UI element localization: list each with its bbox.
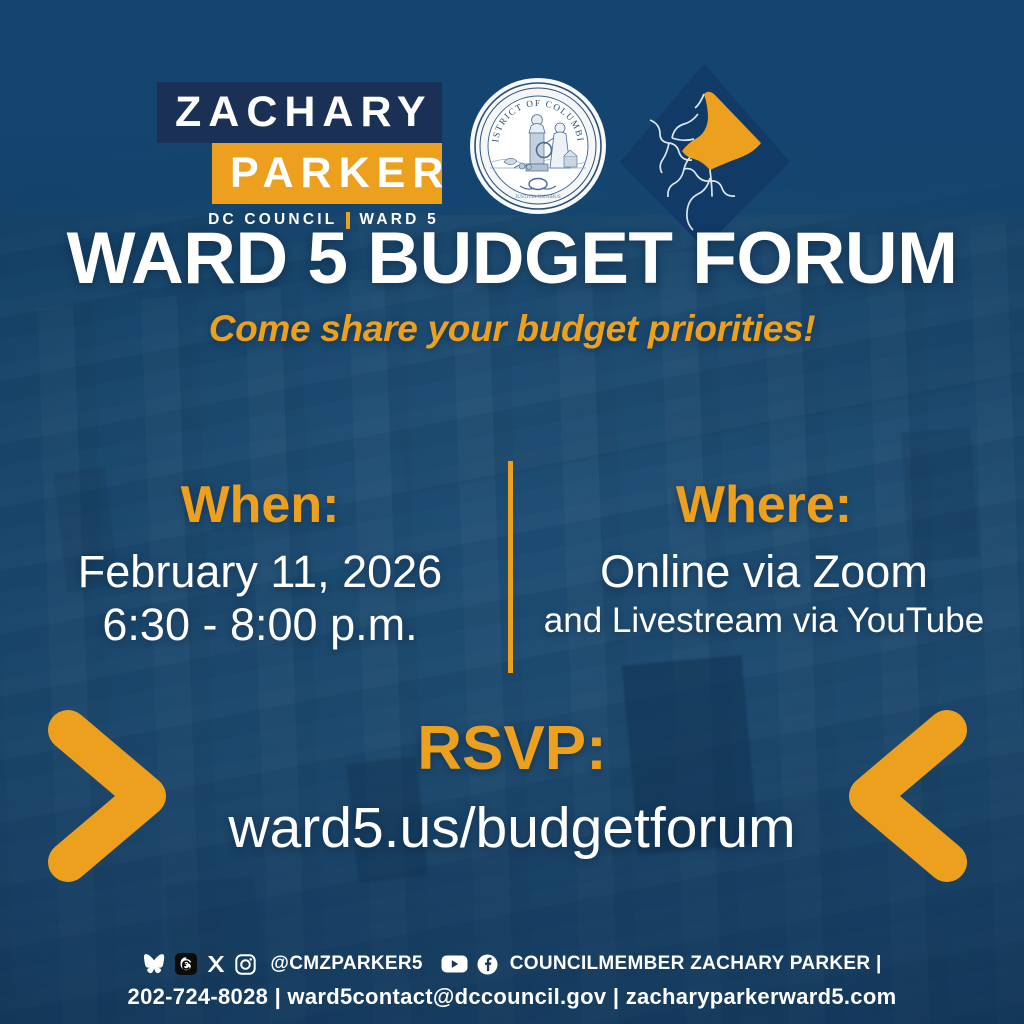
svg-text:JUSTITIA OMNIBUS: JUSTITIA OMNIBUS: [515, 195, 561, 200]
where-block: Where: Online via Zoom and Livestream vi…: [528, 478, 1000, 641]
social-handle: @CMZPARKER5: [270, 953, 422, 975]
threads-icon[interactable]: [175, 953, 197, 975]
chevron-left-icon: [843, 706, 973, 886]
when-heading: When:: [30, 478, 490, 533]
when-block: When: February 11, 2026 6:30 - 8:00 p.m.: [30, 478, 490, 651]
where-livestream: and Livestream via YouTube: [528, 600, 1000, 641]
page-title: WARD 5 BUDGET FORUM: [0, 222, 1024, 295]
where-platform: Online via Zoom: [528, 545, 1000, 598]
facebook-page-name: COUNCILMEMBER ZACHARY PARKER |: [510, 953, 882, 975]
footer: @CMZPARKER5 COUNCILMEMBER ZACHARY PARKER…: [0, 953, 1024, 1024]
logo-name-last: PARKER: [212, 143, 442, 204]
campaign-logo: ZACHARY PARKER DC COUNCIL WARD 5: [157, 82, 442, 229]
contact-line: 202-724-8028 | ward5contact@dccouncil.go…: [128, 984, 897, 1010]
x-icon[interactable]: [206, 954, 226, 974]
where-heading: Where:: [528, 478, 1000, 533]
youtube-icon[interactable]: [441, 954, 468, 974]
facebook-icon[interactable]: [477, 954, 498, 975]
dc-seal-icon: DISTRICT OF COLUMBIA: [468, 76, 608, 216]
when-date: February 11, 2026: [30, 545, 490, 598]
footer-social-row: @CMZPARKER5 COUNCILMEMBER ZACHARY PARKER…: [0, 953, 1024, 975]
footer-contact-row: 202-724-8028 | ward5contact@dccouncil.go…: [0, 984, 1024, 1010]
logo-name-first: ZACHARY: [157, 82, 442, 143]
bluesky-icon[interactable]: [142, 953, 166, 975]
vertical-divider: [508, 461, 513, 673]
flyer-canvas: ZACHARY PARKER DC COUNCIL WARD 5 DISTRIC…: [0, 0, 1024, 1024]
when-time: 6:30 - 8:00 p.m.: [30, 598, 490, 651]
page-subtitle: Come share your budget priorities!: [0, 308, 1024, 350]
instagram-icon[interactable]: [235, 954, 256, 975]
